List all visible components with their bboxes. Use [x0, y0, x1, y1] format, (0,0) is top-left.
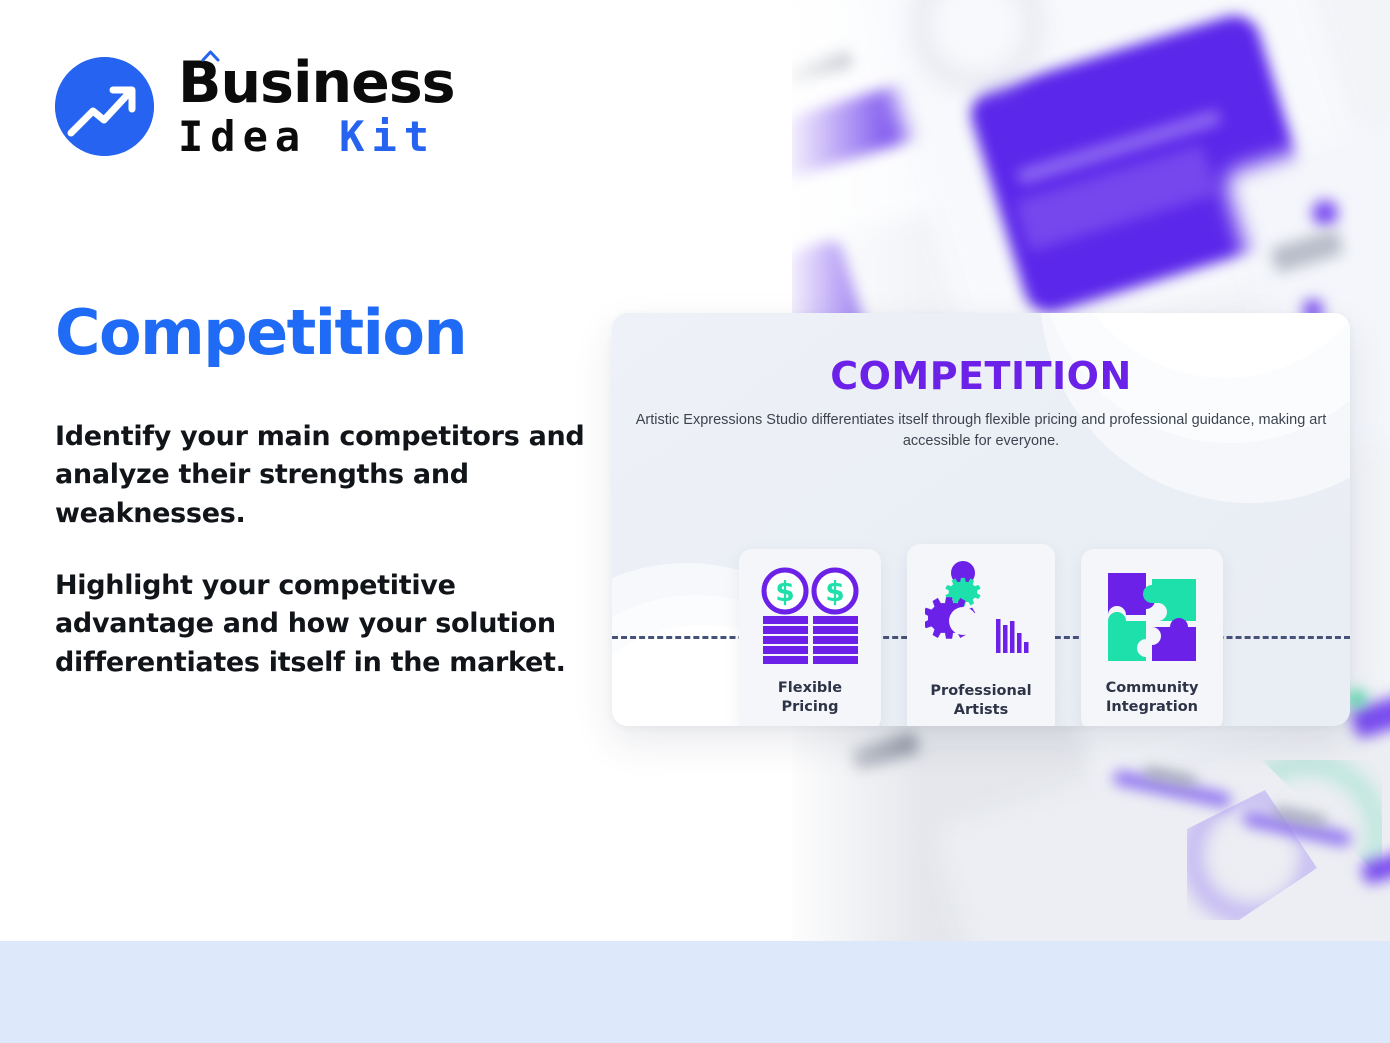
- feature-label-line2: Integration: [1106, 699, 1198, 715]
- card-content: COMPETITION Artistic Expressions Studio …: [612, 354, 1350, 726]
- trend-arrow-circle-icon: [55, 57, 154, 156]
- card-title: COMPETITION: [612, 354, 1350, 398]
- gears-lightbulb-barchart-icon: [925, 558, 1037, 672]
- brand-logo: Business Idea Kit: [55, 55, 455, 158]
- bottom-band: [0, 941, 1390, 1043]
- feature-box-community-integration[interactable]: Community Integration: [1081, 549, 1223, 726]
- feature-list: $ $: [612, 544, 1350, 726]
- feature-label-professional-artists: Professional Artists: [930, 682, 1031, 720]
- feature-label-line1: Community: [1106, 680, 1199, 696]
- feature-label-line2: Artists: [954, 702, 1008, 718]
- brand-name-kit: Kit: [339, 116, 436, 158]
- card-subtitle: Artistic Expressions Studio differentiat…: [612, 410, 1350, 451]
- feature-label-line1: Flexible: [778, 680, 842, 696]
- svg-text:$: $: [775, 575, 794, 608]
- feature-box-flexible-pricing[interactable]: $ $: [739, 549, 881, 726]
- competition-card: COMPETITION Artistic Expressions Studio …: [612, 313, 1350, 726]
- brand-name-line2: Idea Kit: [178, 116, 455, 158]
- puzzle-pieces-icon: [1102, 565, 1202, 669]
- feature-box-professional-artists[interactable]: Professional Artists: [907, 544, 1055, 726]
- feature-label-community-integration: Community Integration: [1106, 679, 1199, 717]
- svg-text:$: $: [825, 575, 844, 608]
- feature-label-line2: Pricing: [781, 699, 838, 715]
- body-paragraph-1: Identify your main competitors and analy…: [55, 418, 585, 533]
- brand-name-idea: Idea: [178, 116, 307, 158]
- feature-label-line1: Professional: [930, 683, 1031, 699]
- body-paragraph-2: Highlight your competitive advantage and…: [55, 567, 585, 682]
- brand-wordmark: Business Idea Kit: [178, 55, 455, 158]
- feature-label-flexible-pricing: Flexible Pricing: [778, 679, 842, 717]
- page-body-copy: Identify your main competitors and analy…: [55, 418, 585, 682]
- coin-stacks-dollar-icon: $ $: [756, 565, 864, 669]
- brand-name-business: Business: [178, 55, 455, 112]
- page-title: Competition: [55, 296, 466, 369]
